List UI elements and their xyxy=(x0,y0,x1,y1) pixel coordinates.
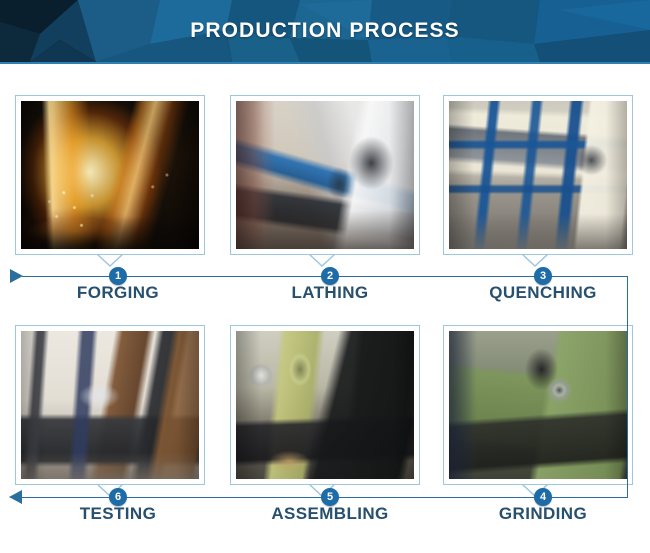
photo-testing xyxy=(21,331,199,479)
step-label-testing: TESTING xyxy=(80,504,156,524)
photo-assembling xyxy=(236,331,414,479)
pointer-chevron-lathing xyxy=(309,254,335,267)
photo-grinding xyxy=(449,331,627,479)
photo-forging xyxy=(21,101,199,249)
process-card-grinding[interactable] xyxy=(443,325,633,485)
timeline-right-connector xyxy=(627,276,628,497)
step-node-6[interactable]: 6 TESTING xyxy=(109,488,127,506)
flow-end-arrow-icon xyxy=(9,490,22,504)
process-card-quenching[interactable] xyxy=(443,95,633,255)
production-process-infographic: PRODUCTION PROCESS xyxy=(0,0,650,553)
pointer-chevron-quenching xyxy=(522,254,548,267)
step-node-2[interactable]: 2 LATHING xyxy=(321,267,339,285)
process-card-lathing[interactable] xyxy=(230,95,420,255)
process-row-bottom xyxy=(0,325,650,485)
pointer-chevron-forging xyxy=(97,254,123,267)
step-node-4[interactable]: 4 GRINDING xyxy=(534,488,552,506)
step-node-3[interactable]: 3 QUENCHING xyxy=(534,267,552,285)
process-card-forging[interactable] xyxy=(15,95,205,255)
photo-quenching xyxy=(449,101,627,249)
step-node-5[interactable]: 5 ASSEMBLING xyxy=(321,488,339,506)
step-label-assembling: ASSEMBLING xyxy=(271,504,388,524)
header-banner: PRODUCTION PROCESS xyxy=(0,0,650,62)
step-label-forging: FORGING xyxy=(77,283,159,303)
step-label-lathing: LATHING xyxy=(291,283,368,303)
process-card-testing[interactable] xyxy=(15,325,205,485)
page-title: PRODUCTION PROCESS xyxy=(0,0,650,62)
header-underline xyxy=(0,62,650,64)
photo-lathing xyxy=(236,101,414,249)
process-card-assembling[interactable] xyxy=(230,325,420,485)
process-row-top xyxy=(0,95,650,255)
step-label-quenching: QUENCHING xyxy=(489,283,597,303)
flow-start-arrow-icon xyxy=(10,269,23,283)
step-node-1[interactable]: 1 FORGING xyxy=(109,267,127,285)
step-label-grinding: GRINDING xyxy=(499,504,587,524)
